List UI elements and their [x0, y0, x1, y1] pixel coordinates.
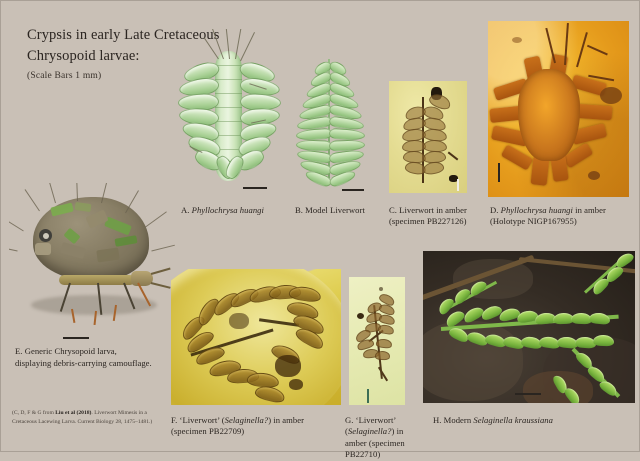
caption-b-text: B. Model Liverwort	[295, 205, 365, 215]
panel-b-image	[292, 53, 370, 197]
caption-d-prefix: D.	[490, 205, 501, 215]
caption-f: F. ‘Liverwort’ (Selaginella?) in amber (…	[171, 415, 337, 438]
caption-a: A. Phyllochrysa huangi	[181, 205, 289, 216]
scale-bar-b	[342, 189, 364, 191]
caption-e: E. Generic Chrysopoid larva, displaying …	[15, 345, 155, 370]
panel-d-image	[488, 21, 629, 197]
panel-e-image	[9, 183, 177, 335]
caption-a-prefix: A.	[181, 205, 192, 215]
scale-bar-a	[243, 187, 267, 189]
caption-h: H. Modern Selaginella kraussiana	[433, 415, 633, 426]
caption-b: B. Model Liverwort	[295, 205, 391, 216]
caption-c: C. Liverwort in amber (specimen PB227126…	[389, 205, 485, 228]
caption-d-taxon: Phyllochrysa huangi	[501, 205, 573, 215]
caption-g: G. ‘Liverwort’ (Selaginella?) in amber (…	[345, 415, 427, 461]
scale-bar-h	[515, 393, 541, 395]
panel-a-image	[177, 29, 283, 197]
panel-h-image	[423, 251, 635, 403]
panel-f-image	[171, 269, 341, 405]
figure-plate: Crypsis in early Late Cretaceous Chrysop…	[0, 0, 640, 452]
caption-d: D. Phyllochrysa huangi in amber (Holotyp…	[490, 205, 634, 228]
caption-h-taxon: Selaginella kraussiana	[473, 415, 553, 425]
caption-a-taxon: Phyllochrysa huangi	[192, 205, 264, 215]
citation-authors: Liu et al (2018)	[55, 410, 91, 416]
caption-e-text: E. Generic Chrysopoid larva, displaying …	[15, 346, 152, 368]
caption-c-text: C. Liverwort in amber	[389, 205, 467, 215]
scale-bar-g	[367, 389, 369, 403]
citation-prefix: (C, D, F & G from	[12, 410, 55, 416]
caption-h-prefix: H. Modern	[433, 415, 473, 425]
scale-bar-c	[457, 179, 459, 191]
caption-f-prefix: F. ‘Liverwort’ (	[171, 415, 225, 425]
caption-g-taxon: Selaginella?	[348, 426, 392, 436]
panel-g-image	[349, 277, 405, 405]
caption-f-taxon: Selaginella?	[225, 415, 269, 425]
citation-note: (C, D, F & G from Liu et al (2018). Live…	[12, 409, 164, 427]
scale-bar-e-outer	[63, 337, 89, 339]
caption-c-specimen: (specimen PB227126)	[389, 216, 467, 226]
panel-c-image	[389, 81, 467, 193]
scale-bar-d	[498, 163, 500, 182]
larva-head	[131, 271, 153, 286]
scale-bar-note: (Scale Bars 1 mm)	[27, 71, 101, 81]
